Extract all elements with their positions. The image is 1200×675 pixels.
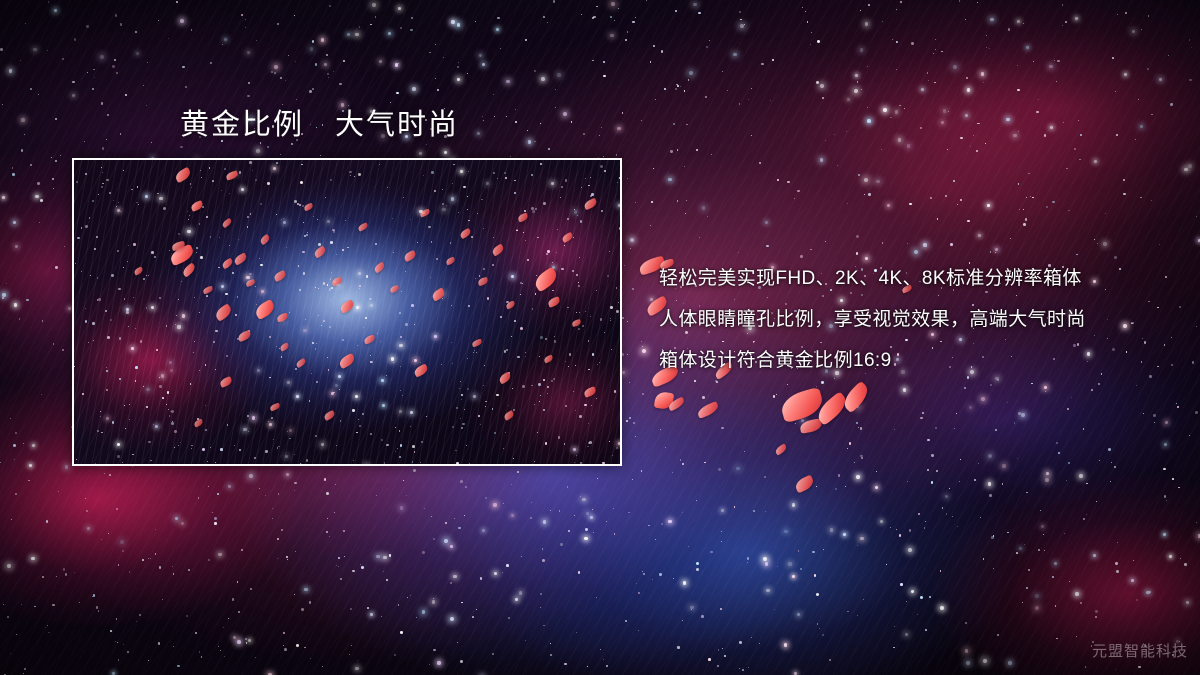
page-title: 黄金比例 大气时尚: [180, 101, 459, 143]
body-line-2: 人体眼睛瞳孔比例，享受视觉效果，高端大气时尚: [659, 299, 1159, 340]
slide-canvas: 黄金比例 大气时尚 轻松完美实现FHD、2K、4K、8K标准分辨率箱体 人体眼睛…: [0, 0, 1200, 675]
body-line-3: 箱体设计符合黄金比例16:9: [659, 340, 1159, 381]
picture-image: [74, 160, 620, 464]
body-line-1: 轻松完美实现FHD、2K、4K、8K标准分辨率箱体: [659, 258, 1159, 299]
picture-frame: [72, 158, 622, 466]
body-text-block: 轻松完美实现FHD、2K、4K、8K标准分辨率箱体 人体眼睛瞳孔比例，享受视觉效…: [659, 258, 1159, 381]
picture-wisp-layer: [74, 160, 620, 464]
watermark-label: 元盟智能科技: [1092, 640, 1188, 661]
